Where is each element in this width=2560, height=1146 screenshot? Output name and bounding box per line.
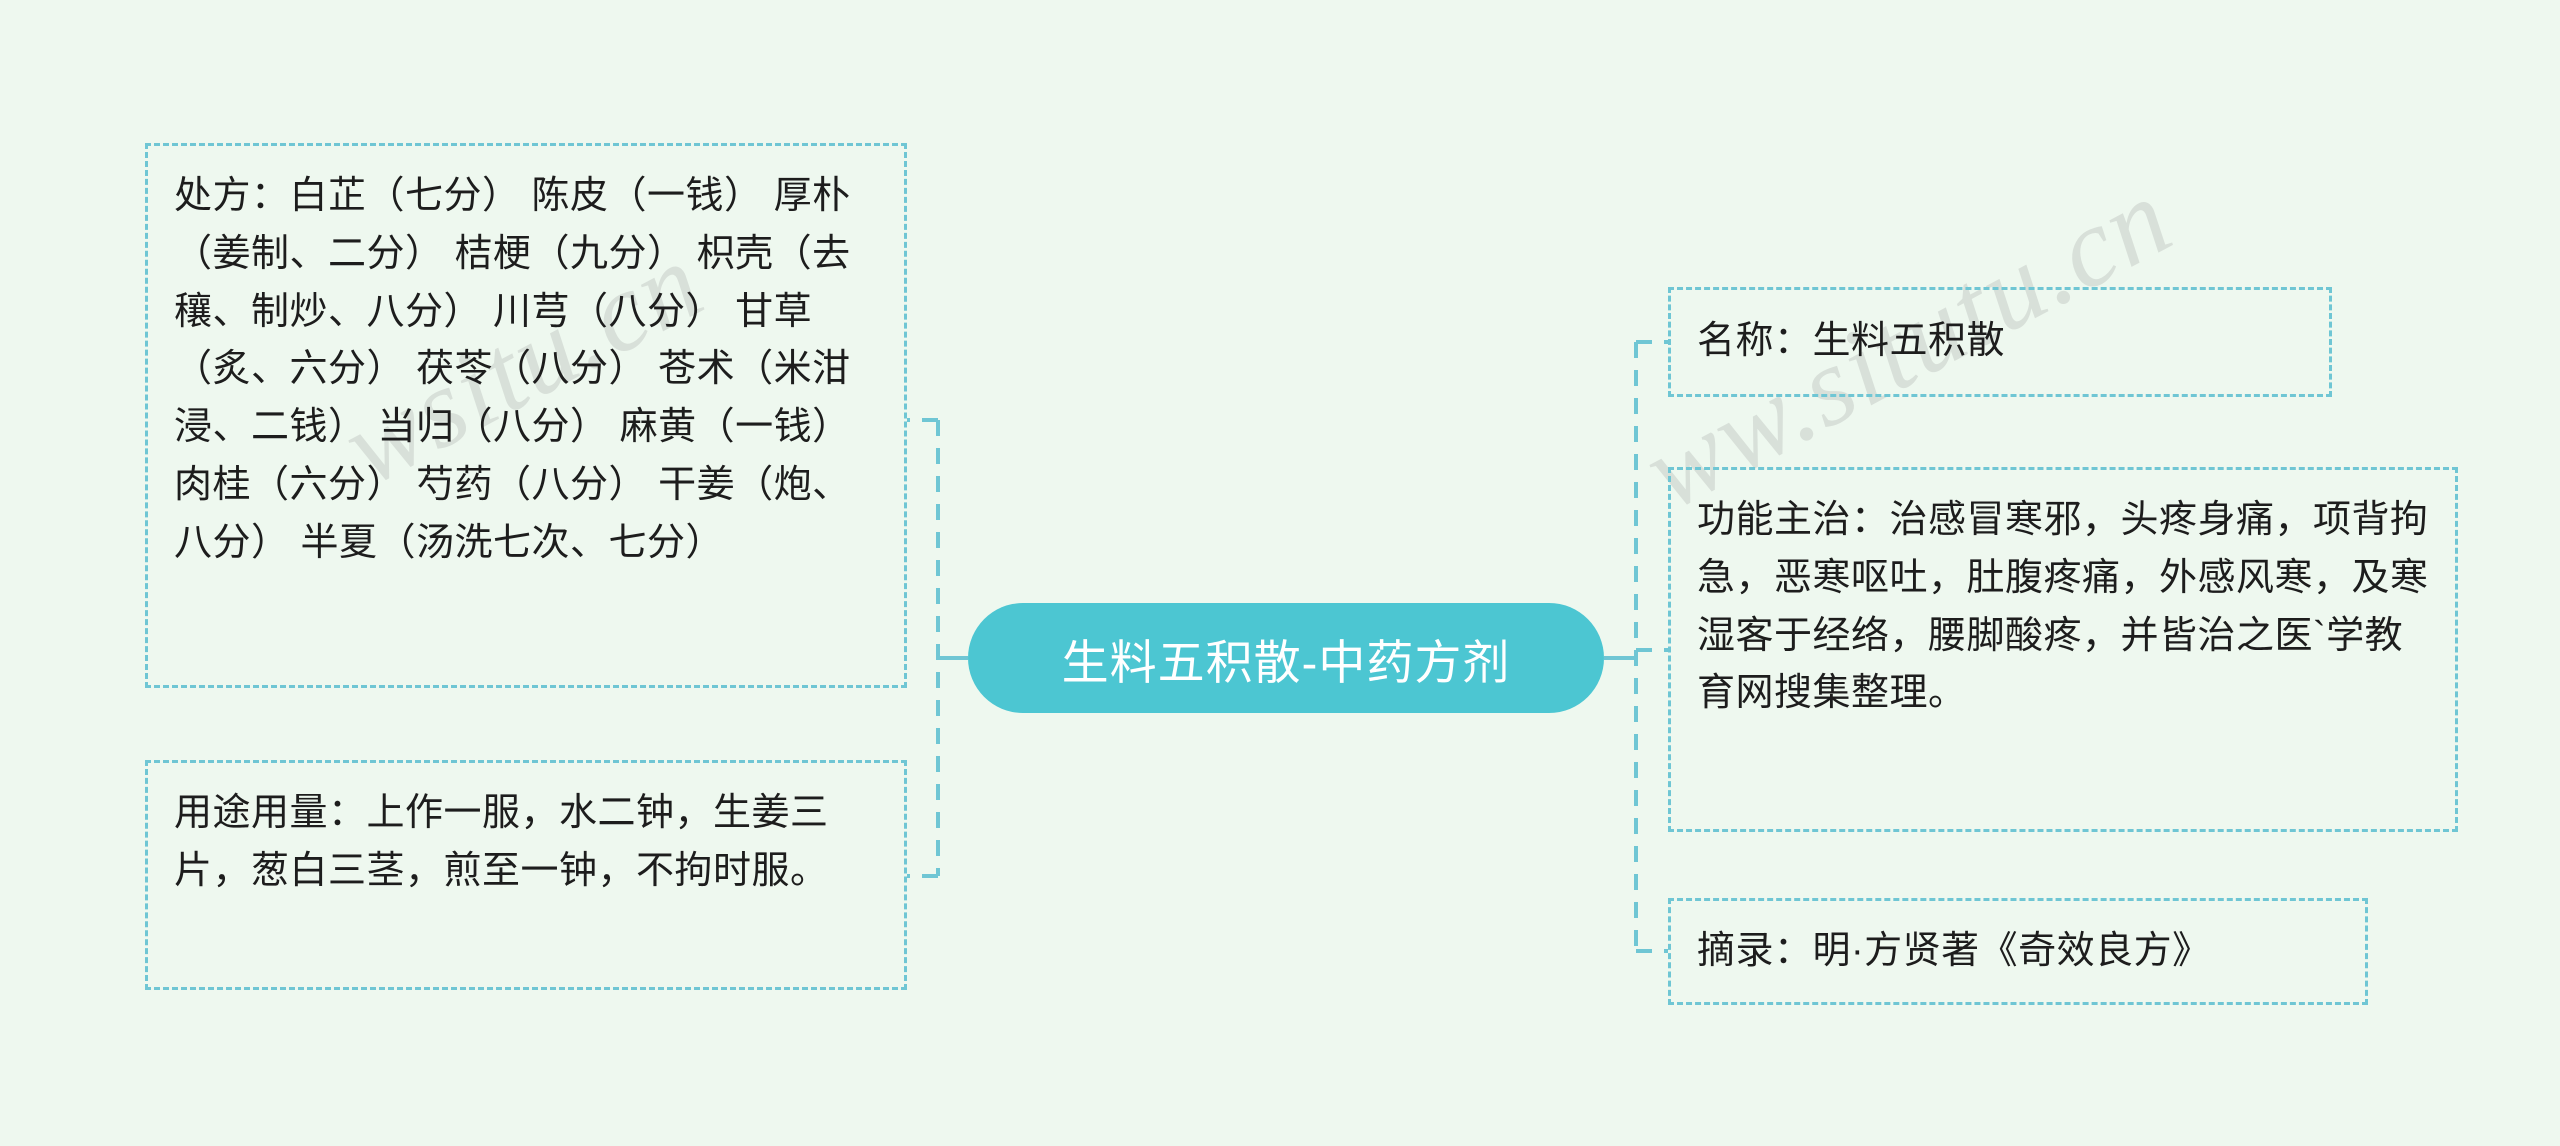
node-indication-text: 功能主治：治感冒寒邪，头疼身痛，项背拘急，恶寒呕吐，肚腹疼痛，外感风寒，及寒湿客… — [1697, 492, 2429, 723]
center-node[interactable]: 生料五积散-中药方剂 — [968, 603, 1604, 713]
node-usage-dosage-text: 用途用量：上作一服，水二钟，生姜三片，葱白三茎，煎至一钟，不拘时服。 — [174, 785, 878, 901]
node-indication[interactable]: 功能主治：治感冒寒邪，头疼身痛，项背拘急，恶寒呕吐，肚腹疼痛，外感风寒，及寒湿客… — [1668, 467, 2458, 832]
node-source[interactable]: 摘录：明·方贤著《奇效良方》 — [1668, 898, 2368, 1005]
node-prescription-text: 处方：白芷（七分） 陈皮（一钱） 厚朴（姜制、二分） 桔梗（九分） 枳壳（去穰、… — [174, 168, 878, 572]
node-name[interactable]: 名称：生料五积散 — [1668, 287, 2332, 397]
node-prescription[interactable]: 处方：白芷（七分） 陈皮（一钱） 厚朴（姜制、二分） 桔梗（九分） 枳壳（去穰、… — [145, 143, 907, 688]
center-node-label: 生料五积散-中药方剂 — [1062, 624, 1511, 693]
node-usage-dosage[interactable]: 用途用量：上作一服，水二钟，生姜三片，葱白三茎，煎至一钟，不拘时服。 — [145, 760, 907, 990]
node-name-text: 名称：生料五积散 — [1697, 313, 2005, 371]
node-source-text: 摘录：明·方贤著《奇效良方》 — [1697, 923, 2211, 981]
